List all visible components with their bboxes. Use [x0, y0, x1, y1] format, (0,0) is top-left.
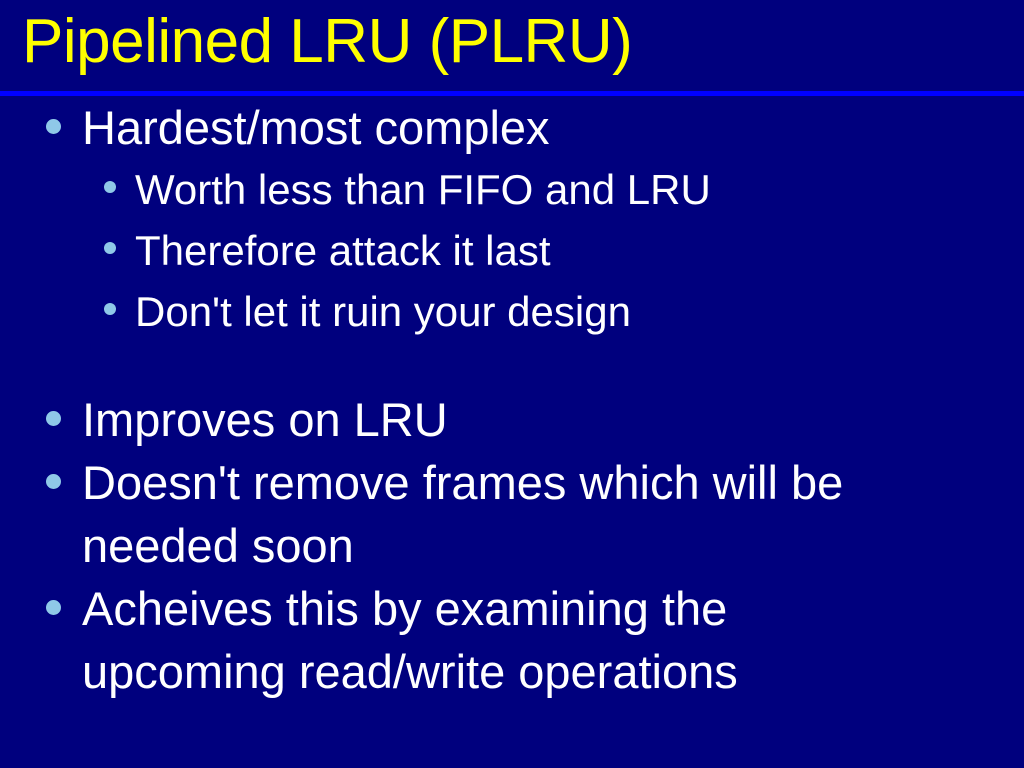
bullet-text: Doesn't remove frames which will be need…	[82, 451, 944, 577]
bullet-group-spacer	[0, 342, 1024, 388]
bullet-marker-icon	[104, 303, 116, 315]
bullet-text: Improves on LRU	[82, 388, 944, 451]
bullet-text: Therefore attack it last	[135, 220, 935, 281]
slide-body: Hardest/most complex Worth less than FIF…	[0, 96, 1024, 768]
slide-title-band: Pipelined LRU (PLRU)	[0, 0, 1024, 92]
bullet-text: Worth less than FIFO and LRU	[135, 159, 935, 220]
bullet-text: Acheives this by examining the upcoming …	[82, 577, 944, 703]
bullet-item-level1: Hardest/most complex	[0, 96, 1024, 159]
bullet-text: Hardest/most complex	[82, 96, 944, 159]
bullet-item-level1: Improves on LRU	[0, 388, 1024, 451]
bullet-item-level2: Therefore attack it last	[0, 220, 1024, 281]
bullet-item-level1: Acheives this by examining the upcoming …	[0, 577, 1024, 703]
bullet-marker-icon	[46, 119, 61, 134]
bullet-item-level1: Doesn't remove frames which will be need…	[0, 451, 1024, 577]
page-title: Pipelined LRU (PLRU)	[22, 2, 632, 82]
bullet-group: Hardest/most complex Worth less than FIF…	[0, 96, 1024, 342]
bullet-item-level2: Worth less than FIFO and LRU	[0, 159, 1024, 220]
presentation-slide: Pipelined LRU (PLRU) Hardest/most comple…	[0, 0, 1024, 768]
bullet-item-level2: Don't let it ruin your design	[0, 281, 1024, 342]
bullet-marker-icon	[46, 600, 61, 615]
bullet-text: Don't let it ruin your design	[135, 281, 935, 342]
bullet-marker-icon	[46, 474, 61, 489]
bullet-marker-icon	[104, 181, 116, 193]
bullet-group: Improves on LRU Doesn't remove frames wh…	[0, 388, 1024, 703]
bullet-marker-icon	[46, 411, 61, 426]
bullet-marker-icon	[104, 242, 116, 254]
